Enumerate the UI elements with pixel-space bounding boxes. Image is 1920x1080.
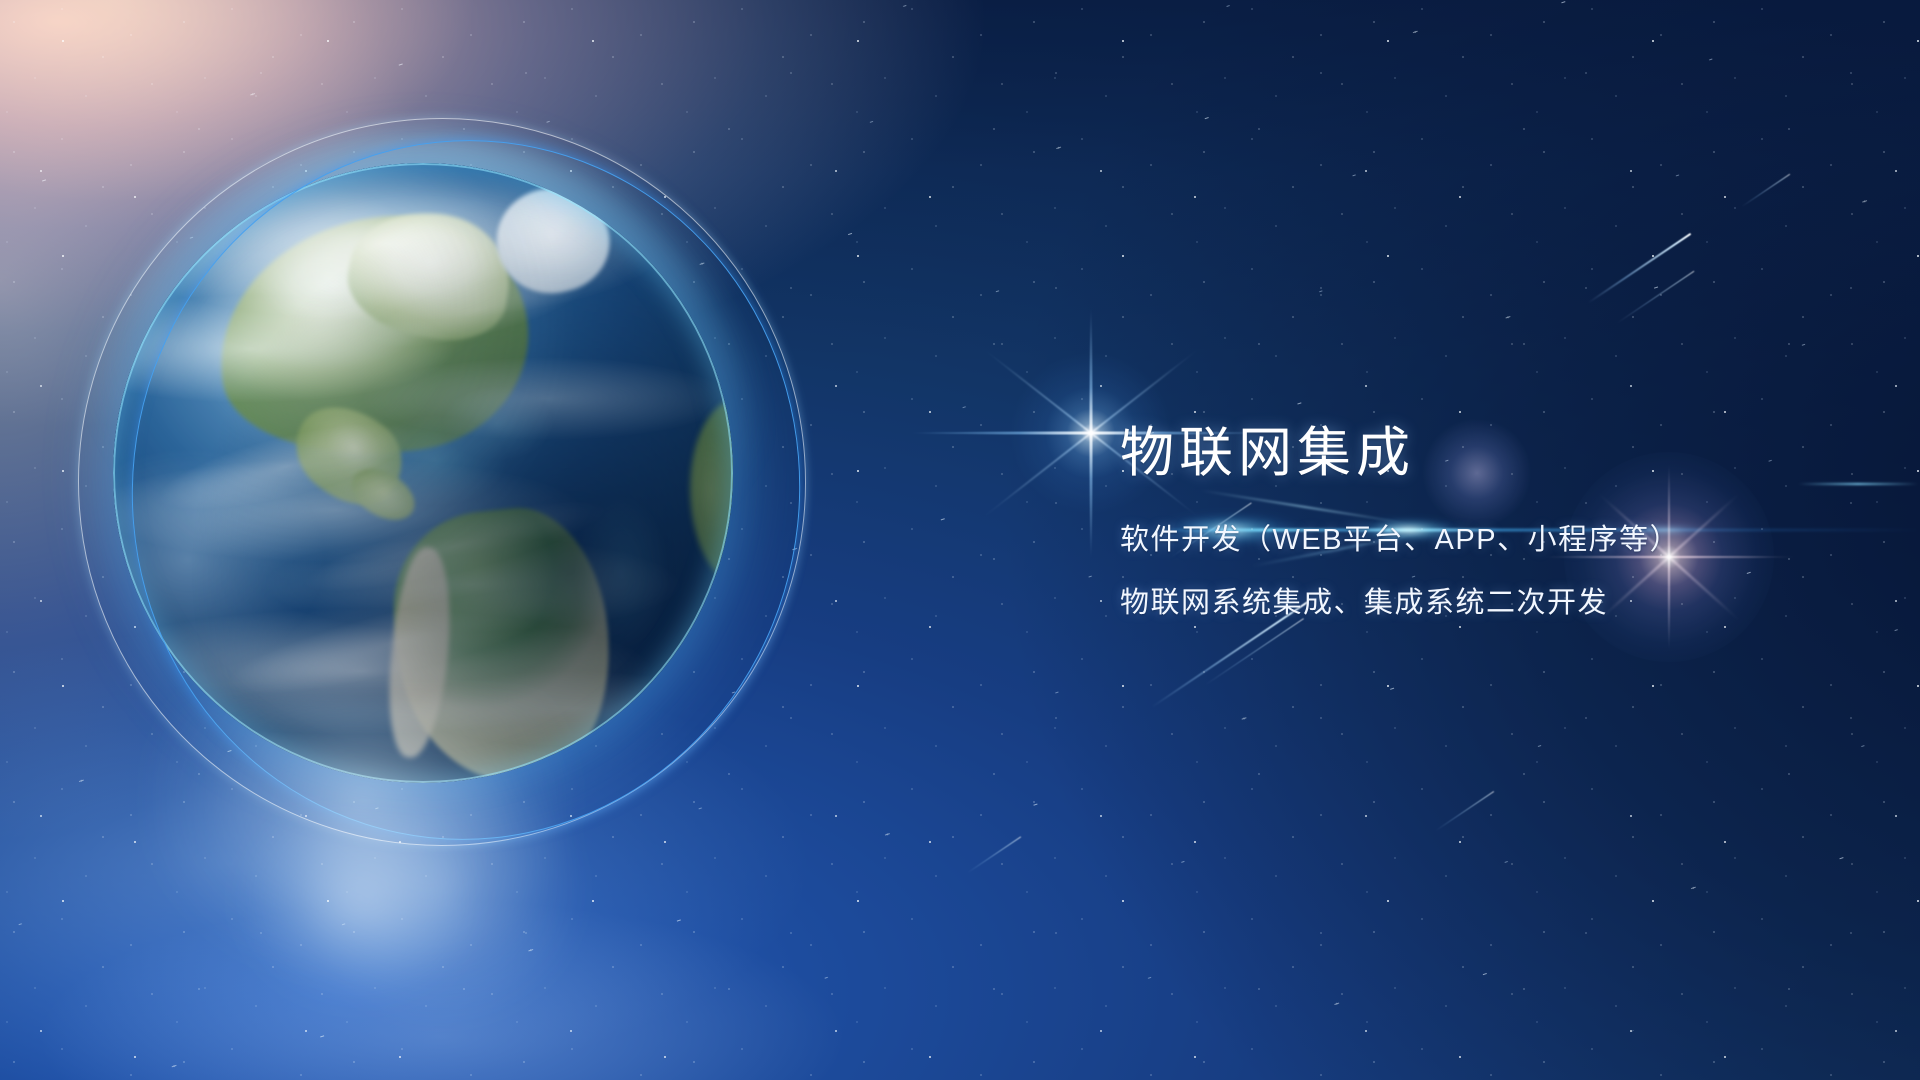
shooting-star-icon	[968, 836, 1022, 873]
globe-reflection-soft	[210, 820, 510, 1080]
globe-limb	[113, 163, 733, 783]
shooting-star-icon	[1436, 791, 1495, 831]
hero-subtitle-2: 物联网系统集成、集成系统二次开发	[1120, 589, 1880, 618]
page-title: 物联网集成	[1120, 424, 1880, 482]
hero-copy: 物联网集成 软件开发（WEB平台、APP、小程序等） 物联网系统集成、集成系统二…	[1120, 424, 1880, 618]
shooting-star-icon	[1618, 271, 1695, 324]
flare-ray-vertical	[1090, 308, 1093, 558]
shooting-star-icon	[1206, 618, 1305, 685]
hero-banner: 物联网集成 软件开发（WEB平台、APP、小程序等） 物联网系统集成、集成系统二…	[0, 0, 1920, 1080]
globe-sphere	[113, 163, 733, 783]
hero-subtitle-1: 软件开发（WEB平台、APP、小程序等）	[1120, 526, 1880, 555]
earth-globe	[113, 163, 733, 783]
shooting-star-icon	[1587, 233, 1691, 304]
shooting-star-icon	[1742, 174, 1791, 208]
lens-flare-star-icon	[1090, 432, 1092, 434]
